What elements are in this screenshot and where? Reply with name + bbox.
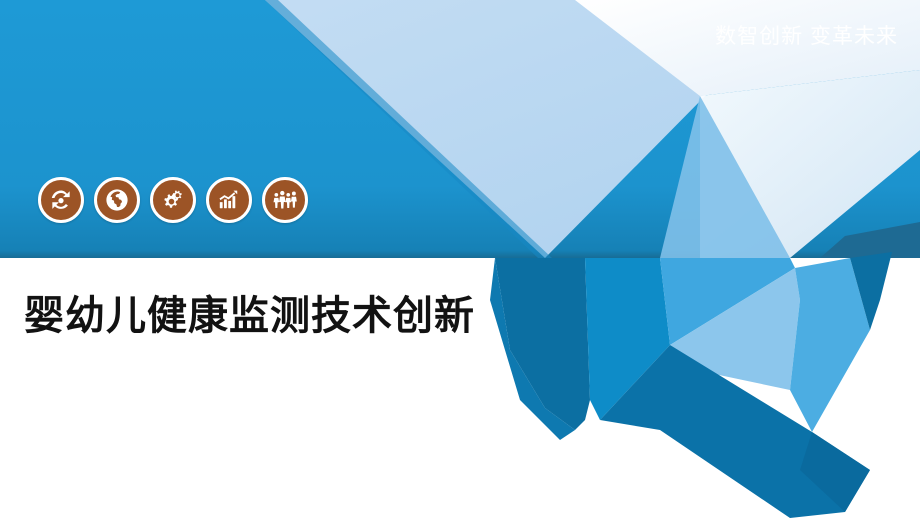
refresh-cycle-icon[interactable] bbox=[38, 177, 84, 223]
gears-icon[interactable] bbox=[150, 177, 196, 223]
poly-slate-strip bbox=[820, 222, 920, 258]
people-group-icon[interactable] bbox=[262, 177, 308, 223]
globe-icon[interactable] bbox=[94, 177, 140, 223]
refresh-cycle-glyph bbox=[48, 187, 74, 213]
gears-glyph bbox=[160, 187, 186, 213]
page-title: 婴幼儿健康监测技术创新 bbox=[24, 293, 475, 339]
tagline: 数智创新 变革未来 bbox=[715, 26, 898, 47]
bar-chart-icon[interactable] bbox=[206, 177, 252, 223]
globe-glyph bbox=[104, 187, 130, 213]
icon-row bbox=[38, 177, 308, 223]
low-poly-background bbox=[0, 0, 920, 518]
slide-canvas: 数智创新 变革未来 bbox=[0, 0, 920, 518]
people-group-glyph bbox=[272, 187, 298, 213]
bar-chart-glyph bbox=[216, 187, 242, 213]
